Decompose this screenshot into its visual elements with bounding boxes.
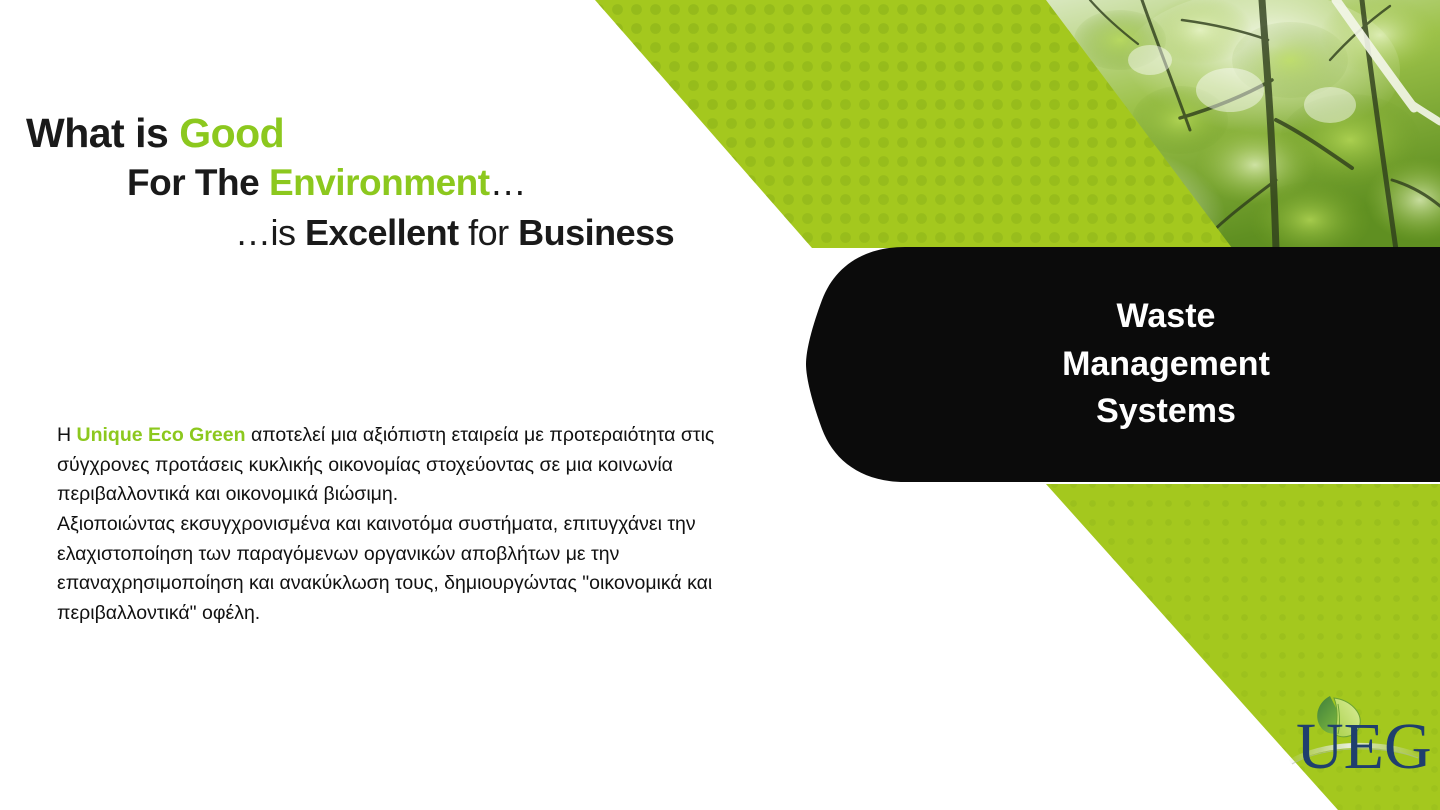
ueg-logo: UEG [1290, 696, 1432, 783]
title-line-3-lead: …is [235, 212, 305, 253]
forest-canopy-photo [1040, 0, 1440, 260]
title-line-1-plain: What is [26, 110, 179, 156]
body-lead: Η [57, 424, 77, 446]
svg-text:UEG: UEG [1296, 710, 1432, 783]
title-line-1: What is Good [0, 112, 820, 155]
company-name: Unique Eco Green [77, 424, 246, 446]
title-line-2-suffix: … [490, 162, 527, 203]
title-line-2-accent: Environment [269, 162, 490, 203]
title-line-1-accent: Good [179, 110, 284, 156]
title-line-3: …is Excellent for Business [0, 214, 820, 252]
title-line-3-bold1: Excellent [305, 212, 459, 253]
title-line-2-plain: For The [127, 162, 269, 203]
banner-label: Waste Management Systems [952, 247, 1380, 482]
waste-management-banner: Waste Management Systems [812, 247, 1440, 482]
banner-line-2: Management [1062, 344, 1270, 385]
banner-line-1: Waste [1117, 296, 1216, 337]
slide-title: What is Good For The Environment… …is Ex… [0, 112, 820, 252]
title-line-3-mid: for [459, 212, 519, 253]
body-paragraph-2: Αξιοποιώντας εκσυγχρονισμένα και καινοτό… [57, 513, 712, 624]
green-wedge-bottom [1046, 484, 1440, 810]
title-line-3-bold2: Business [518, 212, 674, 253]
slide-canvas: UEG What is Good For The Environment… …i… [0, 0, 1440, 810]
title-line-2: For The Environment… [0, 163, 820, 202]
body-paragraph: Η Unique Eco Green αποτελεί μια αξιόπιστ… [57, 421, 747, 628]
banner-line-3: Systems [1096, 391, 1236, 432]
